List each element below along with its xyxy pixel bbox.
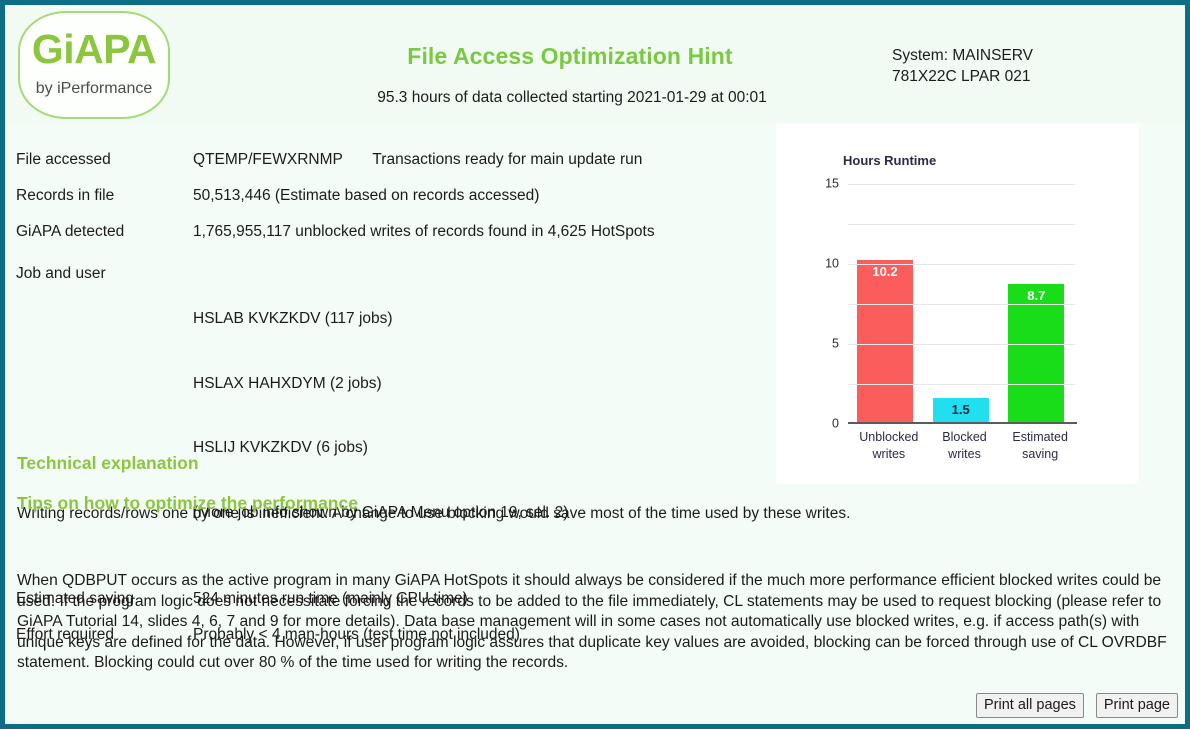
- chart-bar-slot: 10.2: [851, 184, 927, 422]
- hours-runtime-chart: Hours Runtime 10.21.58.7 151050 Unblocke…: [776, 123, 1139, 484]
- section-heading-technical: Technical explanation: [17, 453, 199, 474]
- chart-bar-value-label: 1.5: [933, 402, 989, 417]
- tips-text: When QDBPUT occurs as the active program…: [17, 571, 1169, 674]
- chart-x-tick-label: Estimatedsaving: [1001, 429, 1079, 463]
- system-info: System: MAINSERV 781X22C LPAR 021: [892, 45, 1033, 87]
- chart-bar-value-label: 10.2: [857, 264, 913, 279]
- chart-gridline: [848, 184, 1075, 185]
- info-value: 50,513,446 (Estimate based on records ac…: [193, 187, 539, 205]
- system-lpar: 781X22C LPAR 021: [892, 66, 1033, 87]
- giapa-report-page: GiAPA by iPerformance File Access Optimi…: [0, 0, 1190, 729]
- chart-y-tick-label: 0: [832, 417, 839, 431]
- chart-x-axis: [848, 422, 1077, 424]
- chart-bar: 10.2: [857, 260, 913, 422]
- info-row-file-accessed: File accessed QTEMP/FEWXRNMP Transaction…: [16, 151, 776, 169]
- chart-bar-value-label: 8.7: [1008, 288, 1064, 303]
- system-name: System: MAINSERV: [892, 45, 1033, 66]
- chart-x-tick-line: writes: [926, 446, 1004, 463]
- chart-x-tick-line: saving: [1001, 446, 1079, 463]
- chart-gridline: [848, 224, 1075, 225]
- info-label: GiAPA detected: [16, 223, 193, 241]
- chart-bars: 10.21.58.7: [848, 184, 1075, 422]
- chart-gridline: [848, 344, 1075, 345]
- chart-x-tick-labels: UnblockedwritesBlockedwritesEstimatedsav…: [848, 429, 1075, 477]
- chart-x-tick-line: writes: [850, 446, 928, 463]
- job-line: HSLIJ KVKZKDV (6 jobs): [193, 437, 568, 459]
- job-line: HSLAB KVKZKDV (117 jobs): [193, 308, 568, 330]
- chart-x-tick-label: Unblockedwrites: [850, 429, 928, 463]
- print-page-button[interactable]: Print page: [1096, 693, 1178, 718]
- job-line: HSLAX HAHXDYM (2 jobs): [193, 373, 568, 395]
- chart-bar: 1.5: [933, 398, 989, 422]
- chart-bar-slot: 1.5: [927, 184, 1003, 422]
- chart-gridline: [848, 264, 1075, 265]
- print-all-pages-button[interactable]: Print all pages: [976, 693, 1084, 718]
- section-heading-tips: Tips on how to optimize the performance: [17, 493, 358, 514]
- chart-title: Hours Runtime: [843, 153, 936, 168]
- chart-y-tick-label: 5: [832, 337, 839, 351]
- page-subtitle: 95.3 hours of data collected starting 20…: [5, 89, 1139, 107]
- info-value: QTEMP/FEWXRNMP Transactions ready for ma…: [193, 151, 642, 169]
- info-label: Records in file: [16, 187, 193, 205]
- chart-x-tick-line: Blocked: [926, 429, 1004, 446]
- chart-gridline: [848, 304, 1075, 305]
- chart-plot-area: 10.21.58.7 151050: [848, 184, 1075, 424]
- chart-y-tick-label: 10: [825, 257, 839, 271]
- chart-bar-slot: 8.7: [1002, 184, 1078, 422]
- info-row-giapa-detected: GiAPA detected 1,765,955,117 unblocked w…: [16, 223, 776, 241]
- info-value: 1,765,955,117 unblocked writes of record…: [193, 223, 655, 241]
- info-row-records-in-file: Records in file 50,513,446 (Estimate bas…: [16, 187, 776, 205]
- info-label: File accessed: [16, 151, 193, 169]
- info-label: Job and user: [16, 265, 193, 283]
- chart-x-tick-label: Blockedwrites: [926, 429, 1004, 463]
- print-button-group: Print all pages Print page: [976, 693, 1178, 718]
- chart-y-tick-label: 15: [825, 177, 839, 191]
- page-body: File accessed QTEMP/FEWXRNMP Transaction…: [5, 123, 1185, 724]
- chart-x-tick-line: Estimated: [1001, 429, 1079, 446]
- chart-gridline: [848, 384, 1075, 385]
- page-header: GiAPA by iPerformance File Access Optimi…: [5, 5, 1185, 123]
- chart-x-tick-line: Unblocked: [850, 429, 928, 446]
